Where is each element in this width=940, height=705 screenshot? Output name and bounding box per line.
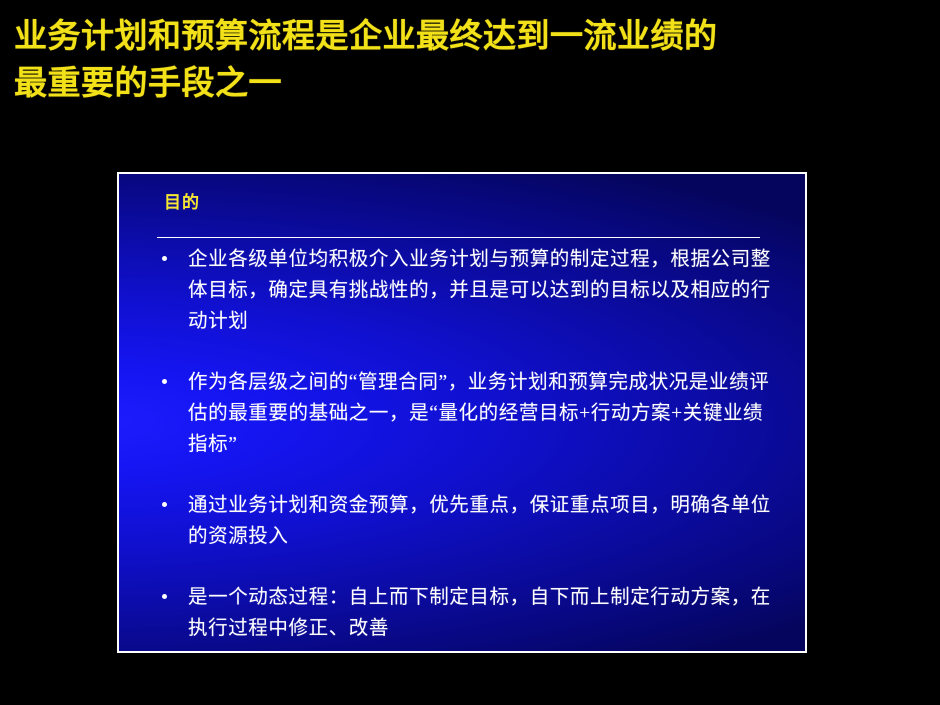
list-item: 通过业务计划和资金预算，优先重点，保证重点项目，明确各单位的资源投入 xyxy=(157,490,782,552)
bullet-dot-icon xyxy=(162,379,167,384)
bullet-dot-icon xyxy=(162,502,167,507)
list-item: 企业各级单位均积极介入业务计划与预算的制定过程，根据公司整体目标，确定具有挑战性… xyxy=(157,244,782,337)
list-item-text: 作为各层级之间的“管理合同”，业务计划和预算完成状况是业绩评估的最重要的基础之一… xyxy=(188,367,782,460)
list-item: 作为各层级之间的“管理合同”，业务计划和预算完成状况是业绩评估的最重要的基础之一… xyxy=(157,367,782,460)
list-item-text: 通过业务计划和资金预算，优先重点，保证重点项目，明确各单位的资源投入 xyxy=(188,490,782,552)
list-item-text: 是一个动态过程：自上而下制定目标，自下而上制定行动方案，在执行过程中修正、改善 xyxy=(188,582,782,644)
panel-header-label: 目的 xyxy=(164,188,200,213)
bullet-dot-icon xyxy=(162,256,167,261)
panel-divider xyxy=(157,237,760,238)
list-item-text: 企业各级单位均积极介入业务计划与预算的制定过程，根据公司整体目标，确定具有挑战性… xyxy=(188,244,782,337)
list-item: 是一个动态过程：自上而下制定目标，自下而上制定行动方案，在执行过程中修正、改善 xyxy=(157,582,782,644)
purpose-panel: 目的 企业各级单位均积极介入业务计划与预算的制定过程，根据公司整体目标，确定具有… xyxy=(117,172,807,653)
bullet-dot-icon xyxy=(162,594,167,599)
slide-title: 业务计划和预算流程是企业最终达到一流业绩的 最重要的手段之一 xyxy=(14,14,924,108)
bullet-list: 企业各级单位均积极介入业务计划与预算的制定过程，根据公司整体目标，确定具有挑战性… xyxy=(157,244,782,644)
